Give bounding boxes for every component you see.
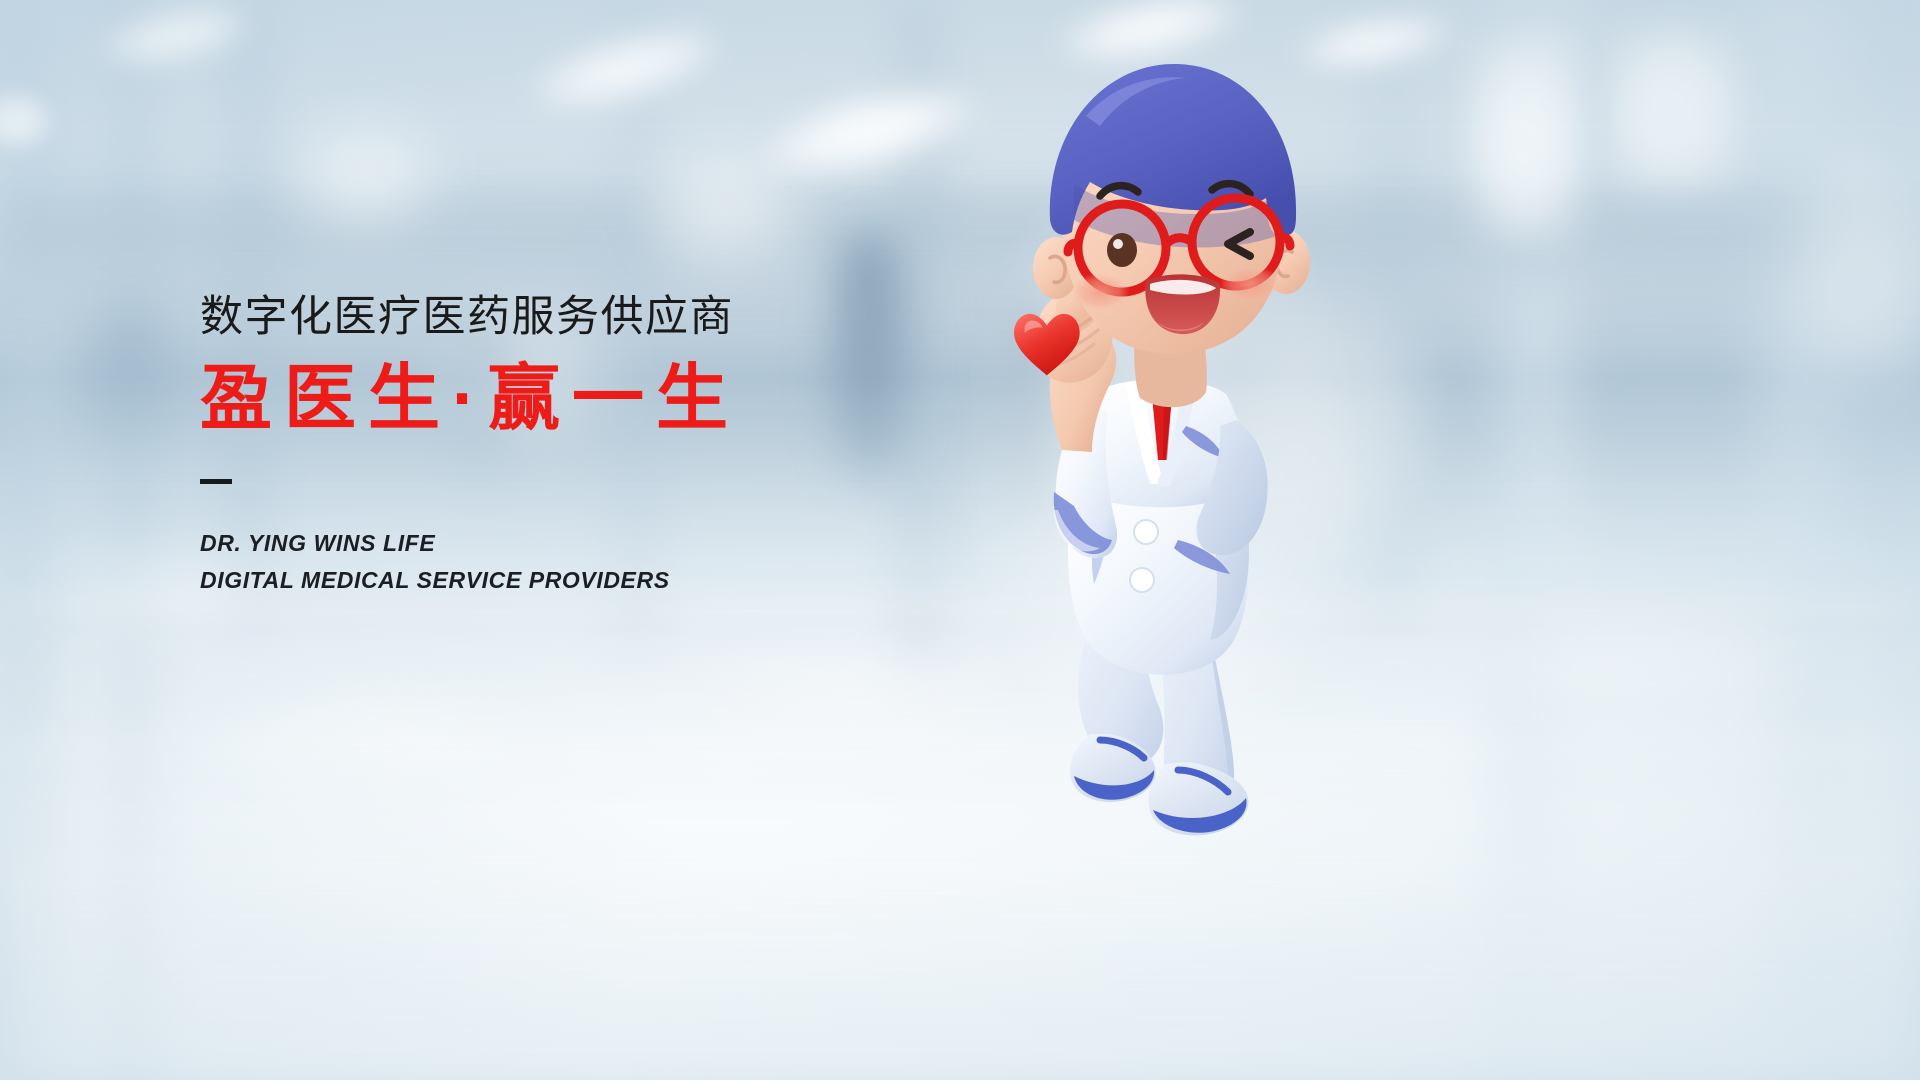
mascot-coat-button-2 bbox=[1130, 568, 1154, 592]
hero-subtitle: 数字化医疗医药服务供应商 bbox=[200, 296, 740, 339]
mascot-eye-left bbox=[1107, 233, 1137, 267]
mascot-cheek-left bbox=[1070, 273, 1130, 311]
mascot-coat-button-1 bbox=[1134, 520, 1158, 544]
hero-english-line-1: DR. YING WINS LIFE bbox=[200, 525, 740, 562]
mascot-doctor-character bbox=[950, 40, 1370, 850]
hero-english-line-2: DIGITAL MEDICAL SERVICE PROVIDERS bbox=[200, 562, 740, 599]
hero-divider bbox=[200, 479, 232, 484]
mascot-cheek-right bbox=[1220, 265, 1280, 303]
hero-english-block: DR. YING WINS LIFE DIGITAL MEDICAL SERVI… bbox=[200, 525, 740, 600]
hero-copy-block: 数字化医疗医药服务供应商 盈医生·赢一生 DR. YING WINS LIFE … bbox=[200, 296, 740, 600]
hero-banner-stage: 数字化医疗医药服务供应商 盈医生·赢一生 DR. YING WINS LIFE … bbox=[0, 0, 1920, 1080]
hero-headline: 盈医生·赢一生 bbox=[200, 363, 740, 435]
